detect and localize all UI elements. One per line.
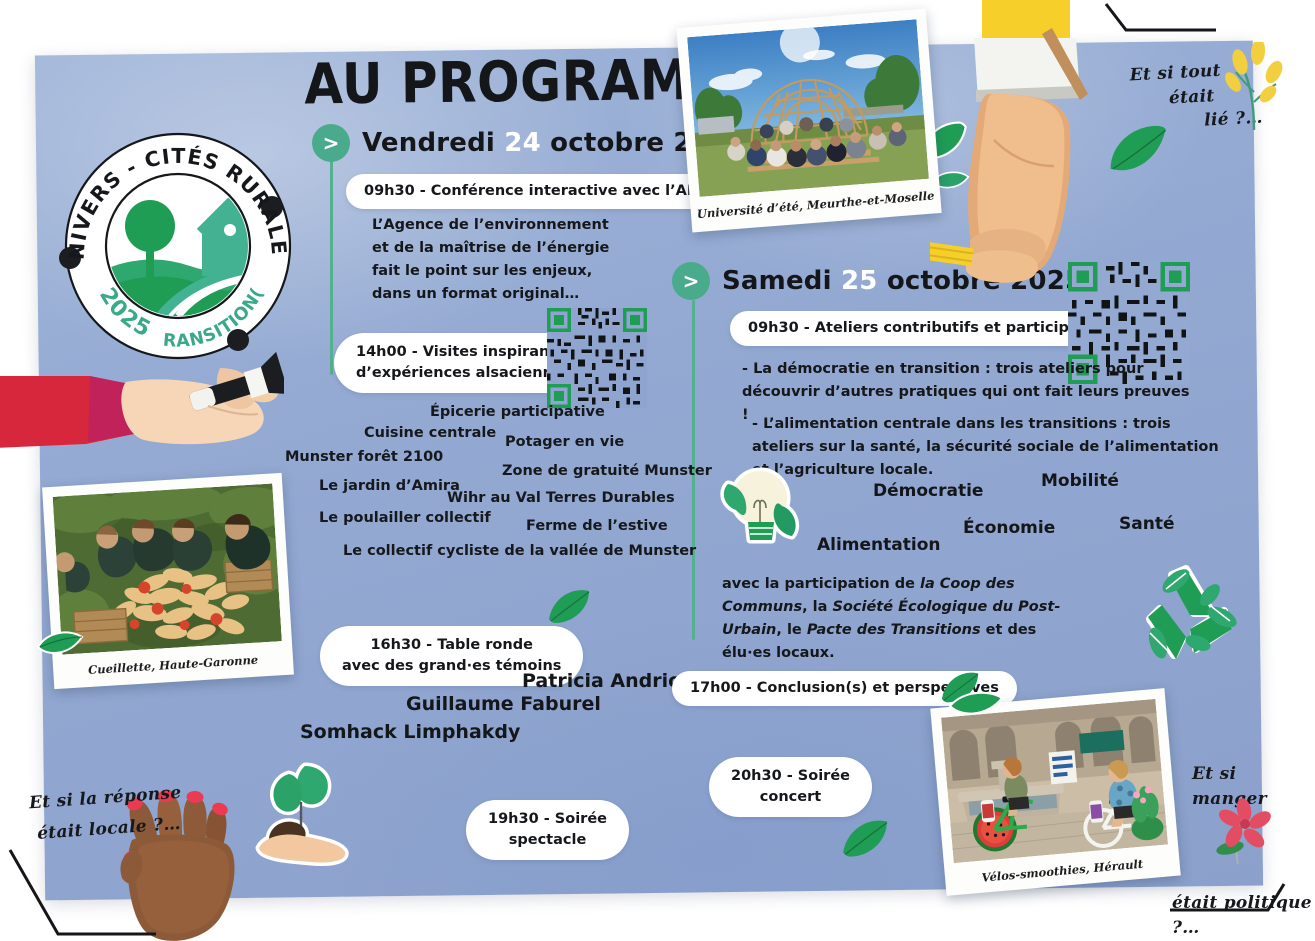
- visit-item: Le jardin d’Amira: [319, 478, 460, 494]
- yellow-flower-icon: [1224, 42, 1284, 137]
- hand-holding-marker: [0, 336, 284, 481]
- lightbulb-leaf-icon: [716, 466, 806, 565]
- session-pill-line1: 14h00 - Visites inspirantes: [356, 342, 575, 363]
- qr-code-vendredi[interactable]: [547, 308, 647, 408]
- day-weekday: Vendredi: [362, 128, 504, 158]
- visit-item: Le collectif cycliste de la vallée de Mu…: [343, 543, 696, 559]
- pointer-line-top-right: [1104, 2, 1224, 55]
- chevron-right-icon: >: [312, 124, 350, 162]
- visit-item: Munster forêt 2100: [285, 449, 443, 465]
- visit-item: Le poulailler collectif: [319, 510, 491, 526]
- recycle-leaves-icon: [1124, 555, 1254, 680]
- timeline-rule-vendredi: [330, 160, 333, 375]
- pointer-line-bottom-left: [8, 848, 158, 941]
- visit-item: Ferme de l’estive: [526, 518, 668, 534]
- pink-flower-icon: [1208, 790, 1280, 873]
- session-pill-line1: 16h30 - Table ronde: [342, 635, 561, 656]
- photo-image-harvest: [53, 483, 282, 654]
- day-weekday: Samedi: [722, 266, 841, 296]
- visit-item: Wihr au Val Terres Durables: [447, 490, 675, 506]
- visit-item: Épicerie participative: [430, 404, 605, 420]
- session-pill-line1: 19h30 - Soirée: [488, 809, 607, 830]
- participation-text: avec la participation de la Coop des Com…: [722, 573, 1082, 665]
- seedling-in-hand-icon: [245, 760, 350, 875]
- session-pill-line2: spectacle: [488, 830, 607, 851]
- day-number: 25: [841, 266, 878, 296]
- leaf-icon: [36, 625, 86, 664]
- session-pill-line1: 20h30 - Soirée: [731, 766, 850, 787]
- speaker-name: Somhack Limphakdy: [300, 721, 520, 743]
- workshop-alimentation: - L’alimentation centrale dans les trans…: [752, 413, 1230, 482]
- day-number: 24: [504, 128, 541, 158]
- workshop-title: - L’alimentation centrale dans les trans…: [752, 416, 1128, 432]
- visit-item: Potager en vie: [505, 434, 624, 450]
- keyword-democratie: Démocratie: [873, 481, 983, 501]
- keyword-mobilite: Mobilité: [1041, 471, 1119, 491]
- participation-org: Pacte des Transitions: [807, 622, 981, 638]
- visit-item: Zone de gratuité Munster: [502, 463, 712, 479]
- participation-prefix: avec la participation de: [722, 576, 920, 592]
- leaf-icon: [838, 815, 892, 866]
- photo-image-smoothie-bikes: [941, 699, 1168, 863]
- participation-sep: , la: [802, 599, 832, 615]
- note-line-1: Et si la réponse: [28, 781, 182, 816]
- photo-universite-ete: Université d’été, Meurthe-et-Moselle: [676, 9, 941, 233]
- leaf-icon: [948, 688, 1004, 723]
- keyword-economie: Économie: [963, 518, 1055, 538]
- session-pill-line2: concert: [731, 787, 850, 808]
- poster-canvas: UNIVERS - CITÉS RURALES 2025 TRANSITION(…: [0, 0, 1315, 941]
- photo-image-dome: [687, 19, 929, 197]
- logo-univers-cites-rurales: UNIVERS - CITÉS RURALES 2025 TRANSITION(…: [50, 118, 305, 373]
- speaker-name: Patricia Andriot: [522, 670, 690, 692]
- participation-sep: , le: [776, 622, 806, 638]
- speaker-name: Guillaume Faburel: [406, 693, 601, 715]
- session-pill-vendredi-1930[interactable]: 19h30 - Soirée spectacle: [466, 800, 629, 860]
- session-pill-samedi-0930[interactable]: 09h30 - Ateliers contributifs et partici…: [730, 311, 1124, 346]
- keyword-sante: Santé: [1119, 514, 1174, 534]
- day-header-vendredi: > Vendredi 24 octobre 2025: [312, 124, 747, 162]
- visit-item: Cuisine centrale: [364, 425, 496, 441]
- session-description-ademe: L’Agence de l’environnement et de la maî…: [372, 214, 627, 306]
- pointer-line-bottom-right: [1168, 880, 1288, 935]
- chevron-right-icon: >: [672, 262, 710, 300]
- workshop-title: - La démocratie en transition :: [742, 361, 991, 377]
- keyword-alimentation: Alimentation: [817, 535, 941, 555]
- note-reponse-locale: Et si la réponse était locale ?…: [28, 781, 184, 847]
- session-pill-line2: d’expériences alsaciennes: [356, 363, 575, 384]
- session-pill-samedi-2030[interactable]: 20h30 - Soirée concert: [709, 757, 872, 817]
- leaf-icon: [545, 585, 593, 632]
